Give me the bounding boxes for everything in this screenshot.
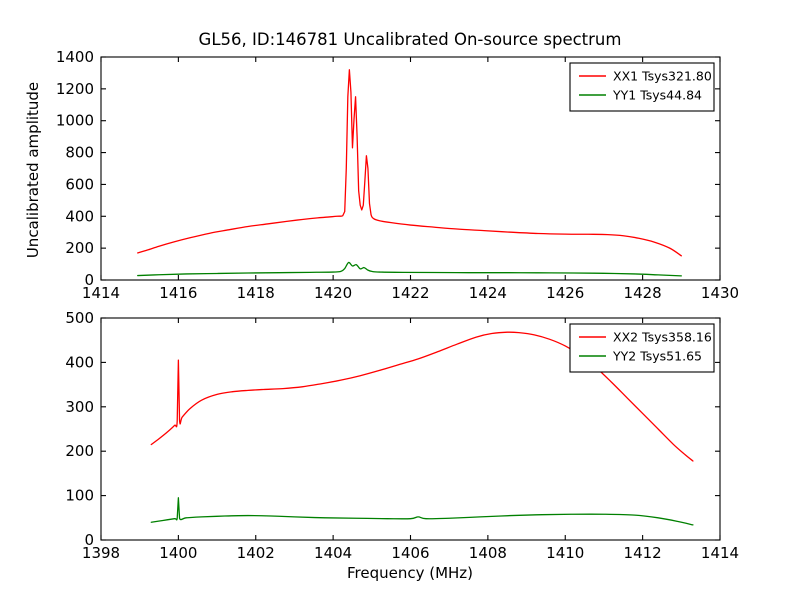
top-ytick-label: 800	[65, 144, 94, 162]
bottom-ytick-label: 300	[65, 398, 94, 416]
top-ytick-label: 600	[65, 175, 94, 193]
bottom-xtick-label: 1408	[469, 544, 507, 562]
bottom-xtick-label: 1412	[624, 544, 662, 562]
bottom-xtick-label: 1402	[237, 544, 275, 562]
top-ytick-label: 1000	[56, 112, 94, 130]
bottom-xtick-label: 1400	[159, 544, 197, 562]
top-legend-label: YY1 Tsys44.84	[612, 88, 702, 103]
bottom-x-axis-label: Frequency (MHz)	[347, 564, 473, 582]
top-y-axis-label: Uncalibrated amplitude	[24, 82, 42, 258]
top-xtick-label: 1422	[391, 284, 429, 302]
bottom-xtick-label: 1404	[314, 544, 352, 562]
bottom-ytick-label: 400	[65, 353, 94, 371]
top-ytick-label: 200	[65, 239, 94, 257]
bottom-legend-label: YY2 Tsys51.65	[612, 349, 702, 364]
top-xtick-label: 1426	[546, 284, 584, 302]
spectrum-figure: GL56, ID:146781 Uncalibrated On-source s…	[0, 0, 800, 600]
top-ytick-label: 0	[84, 271, 94, 289]
bottom-ytick-label: 200	[65, 442, 94, 460]
page-title: GL56, ID:146781 Uncalibrated On-source s…	[199, 30, 622, 49]
bottom-ytick-label: 100	[65, 487, 94, 505]
top-xtick-label: 1424	[469, 284, 507, 302]
top-xtick-label: 1428	[624, 284, 662, 302]
bottom-xtick-label: 1414	[701, 544, 739, 562]
bottom-ytick-label: 0	[84, 531, 94, 549]
top-xtick-label: 1430	[701, 284, 739, 302]
top-ytick-label: 400	[65, 207, 94, 225]
top-xtick-label: 1420	[314, 284, 352, 302]
top-legend[interactable]: XX1 Tsys321.80YY1 Tsys44.84	[570, 63, 714, 111]
bottom-xtick-label: 1406	[391, 544, 429, 562]
top-xtick-label: 1418	[237, 284, 275, 302]
bottom-ytick-label: 500	[65, 309, 94, 327]
bottom-legend-label: XX2 Tsys358.16	[613, 330, 712, 345]
bottom-xtick-label: 1410	[546, 544, 584, 562]
top-ytick-label: 1400	[56, 48, 94, 66]
bottom-legend[interactable]: XX2 Tsys358.16YY2 Tsys51.65	[570, 324, 714, 372]
top-ytick-label: 1200	[56, 80, 94, 98]
figure-canvas: GL56, ID:146781 Uncalibrated On-source s…	[0, 0, 800, 600]
top-xtick-label: 1416	[159, 284, 197, 302]
top-legend-label: XX1 Tsys321.80	[613, 69, 712, 84]
